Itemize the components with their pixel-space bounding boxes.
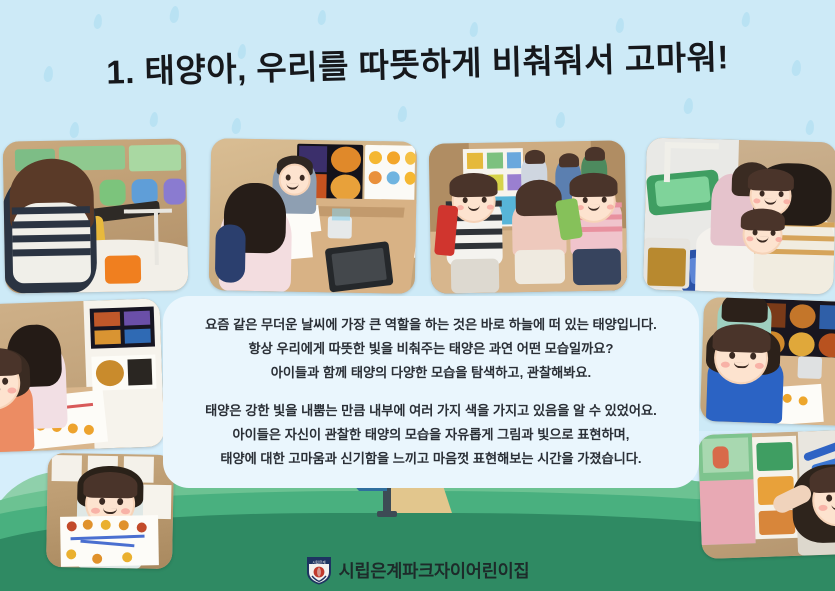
photo-card-5[interactable]	[0, 298, 165, 453]
school-name: 시립은계파크자이어린이집	[339, 558, 530, 583]
photo-card-4[interactable]	[643, 138, 835, 295]
paragraph-1-line-3: 아이들과 함께 태양의 다양한 모습을 탐색하고, 관찰해봐요.	[205, 361, 657, 385]
paragraph-2: 태양은 강한 빛을 내뿜는 만큼 내부에 여러 가지 색을 가지고 있음을 알 …	[205, 399, 657, 471]
photo-2-content	[209, 138, 418, 294]
description-panel: 요즘 같은 무더운 날씨에 가장 큰 역할을 하는 것은 바로 하늘에 떠 있는…	[163, 296, 699, 488]
footer: 시립은계 시립은계파크자이어린이집	[0, 555, 835, 585]
photo-card-6[interactable]	[46, 453, 174, 569]
photo-card-3[interactable]	[429, 140, 628, 293]
photo-8-content	[698, 429, 835, 559]
svg-text:시립은계: 시립은계	[312, 559, 325, 564]
photo-card-7[interactable]	[700, 297, 835, 427]
photo-7-content	[700, 297, 835, 427]
photo-card-2[interactable]	[209, 138, 418, 294]
photo-6-content	[46, 453, 174, 569]
paragraph-2-line-3: 태양에 대한 고마움과 신기함을 느끼고 마음껏 표현해보는 시간을 가졌습니다…	[205, 447, 657, 471]
photo-card-8[interactable]	[698, 429, 835, 559]
photo-card-1[interactable]	[3, 138, 189, 293]
paragraph-2-line-2: 아이들은 자신이 관찰한 태양의 모습을 자유롭게 그림과 빛으로 표현하며,	[205, 423, 657, 447]
poster-root: 1. 태양아, 우리를 따뜻하게 비춰줘서 고마워!	[0, 0, 835, 591]
paragraph-1: 요즘 같은 무더운 날씨에 가장 큰 역할을 하는 것은 바로 하늘에 떠 있는…	[205, 313, 657, 385]
photo-4-content	[643, 138, 835, 295]
school-crest-icon: 시립은계	[306, 555, 332, 585]
paragraph-1-line-1: 요즘 같은 무더운 날씨에 가장 큰 역할을 하는 것은 바로 하늘에 떠 있는…	[205, 313, 657, 337]
paragraph-2-line-1: 태양은 강한 빛을 내뿜는 만큼 내부에 여러 가지 색을 가지고 있음을 알 …	[205, 399, 657, 423]
photo-5-content	[0, 298, 165, 453]
photo-3-content	[429, 140, 628, 293]
paragraph-1-line-2: 항상 우리에게 따뜻한 빛을 비춰주는 태양은 과연 어떤 모습일까요?	[205, 337, 657, 361]
photo-1-content	[3, 138, 189, 293]
